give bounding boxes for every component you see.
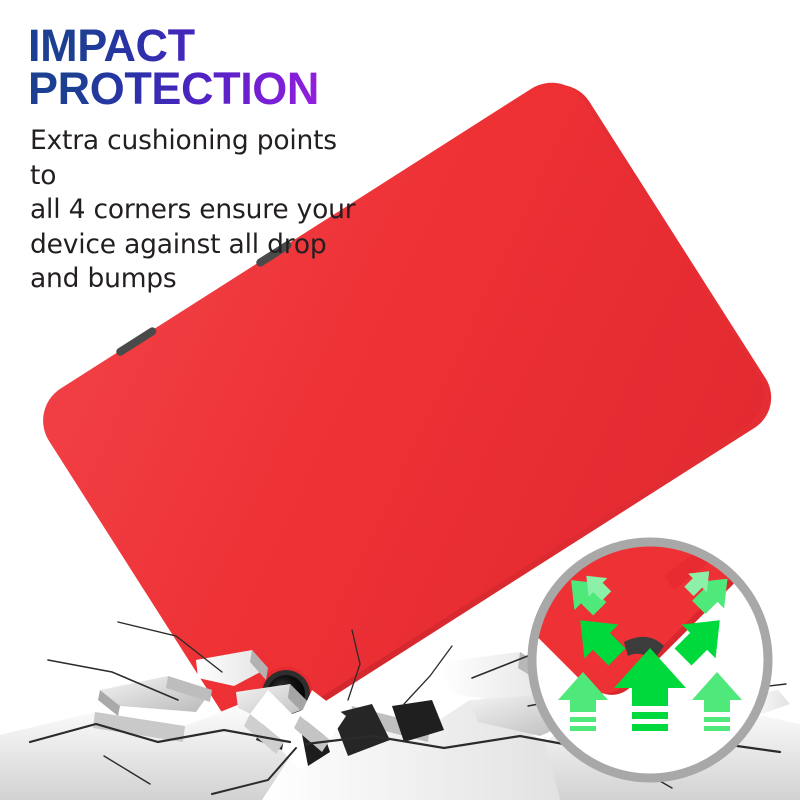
product-feature-banner: IMPACT PROTECTION Extra cushioning point… [0, 0, 800, 800]
feature-description: Extra cushioning points to all 4 corners… [30, 124, 368, 296]
corner-detail-callout [524, 534, 776, 786]
page-title: IMPACT PROTECTION [28, 24, 368, 110]
marketing-copy: IMPACT PROTECTION Extra cushioning point… [28, 24, 368, 297]
